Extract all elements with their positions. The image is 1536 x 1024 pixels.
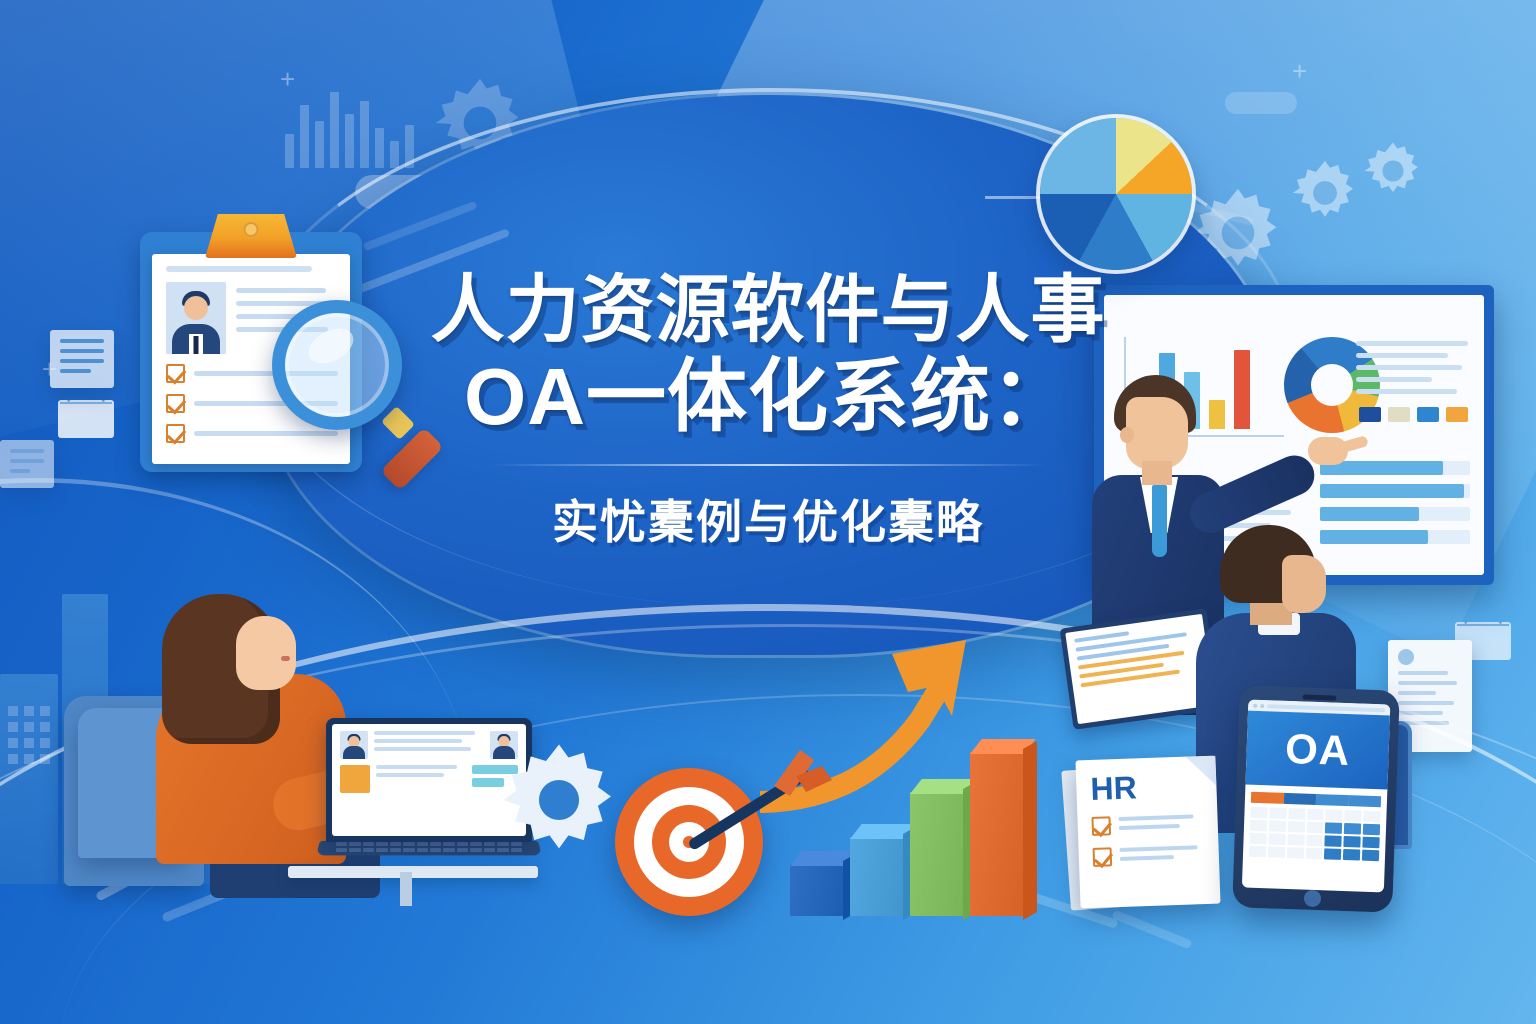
calendar-cell	[1363, 824, 1380, 836]
calendar-cell	[1268, 833, 1285, 845]
calendar-cell	[1324, 848, 1341, 860]
bar	[850, 837, 904, 916]
calendar-cell	[1288, 821, 1305, 833]
list-item	[1091, 813, 1206, 836]
smartphone: OA	[1232, 685, 1400, 912]
sparkle-icon: +	[280, 66, 295, 92]
bar	[790, 864, 844, 916]
calendar-cell	[1345, 810, 1362, 822]
calendar-cell	[1306, 822, 1323, 834]
hr-document-card: HR	[1075, 756, 1220, 909]
calendar-cell	[1287, 834, 1304, 846]
calendar-cell	[1249, 846, 1266, 858]
calendar-header	[1251, 792, 1381, 808]
calendar-grid	[1243, 807, 1387, 862]
calendar-cell	[1306, 835, 1323, 847]
calendar-cell	[1269, 820, 1286, 832]
decor-dash	[1111, 910, 1192, 950]
headline-line-2: OA一体化系统：	[0, 355, 1536, 438]
gear-icon	[1290, 158, 1360, 228]
ghost-bar-chart	[285, 78, 414, 168]
growth-arrow-icon	[760, 634, 1010, 834]
home-button	[1304, 890, 1322, 908]
calendar-cell	[1362, 850, 1379, 862]
hr-label: HR	[1090, 769, 1205, 805]
calendar-cell	[1307, 809, 1324, 821]
calendar-cell	[1363, 811, 1380, 823]
oa-header: OA	[1245, 711, 1389, 790]
list-item	[1093, 844, 1208, 867]
checkmark-icon	[1093, 847, 1113, 867]
calendar-cell	[1250, 820, 1267, 832]
sparkle-icon: +	[1292, 58, 1307, 84]
dart-fletching	[770, 746, 840, 802]
cloud-icon	[1225, 92, 1297, 114]
calendar-cell	[1326, 809, 1343, 821]
calendar-cell	[1343, 849, 1360, 861]
calendar-cell	[1325, 835, 1342, 847]
woman-at-laptop-scene	[60, 504, 530, 904]
calendar-cell	[1269, 807, 1286, 819]
checkmark-icon	[1091, 816, 1111, 836]
laptop-keyboard	[336, 842, 522, 852]
calendar-cell	[1344, 823, 1361, 835]
calendar-cell	[1287, 847, 1304, 859]
headline-divider	[488, 464, 1048, 466]
calendar-cell	[1250, 807, 1267, 819]
gear-icon	[500, 741, 618, 864]
calendar-cell	[1325, 822, 1342, 834]
calendar-cell	[1362, 837, 1379, 849]
calendar-cell	[1268, 846, 1285, 858]
calendar-cell	[1305, 848, 1322, 860]
headline-block: 人力资源软件与人事 OA一体化系统： 实忧橐例与优化橐略	[0, 272, 1536, 552]
clipboard-clip	[205, 214, 297, 258]
decor-pie-chart	[1040, 118, 1192, 270]
calendar-cell	[1288, 808, 1305, 820]
headline-line-1: 人力资源软件与人事	[0, 272, 1536, 349]
avatar	[340, 731, 368, 759]
woman-face	[236, 616, 296, 690]
calendar-cell	[1344, 836, 1361, 848]
calendar-cell	[1249, 833, 1266, 845]
headline-subtitle: 实忧橐例与优化橐略	[0, 486, 1536, 552]
banner-canvas: + ◆ + + + + 人力资源软件与人事 OA一体化系统： 实忧橐例与优化橐略	[0, 0, 1536, 1024]
oa-label: OA	[1284, 728, 1350, 772]
gear-icon	[1362, 140, 1424, 202]
